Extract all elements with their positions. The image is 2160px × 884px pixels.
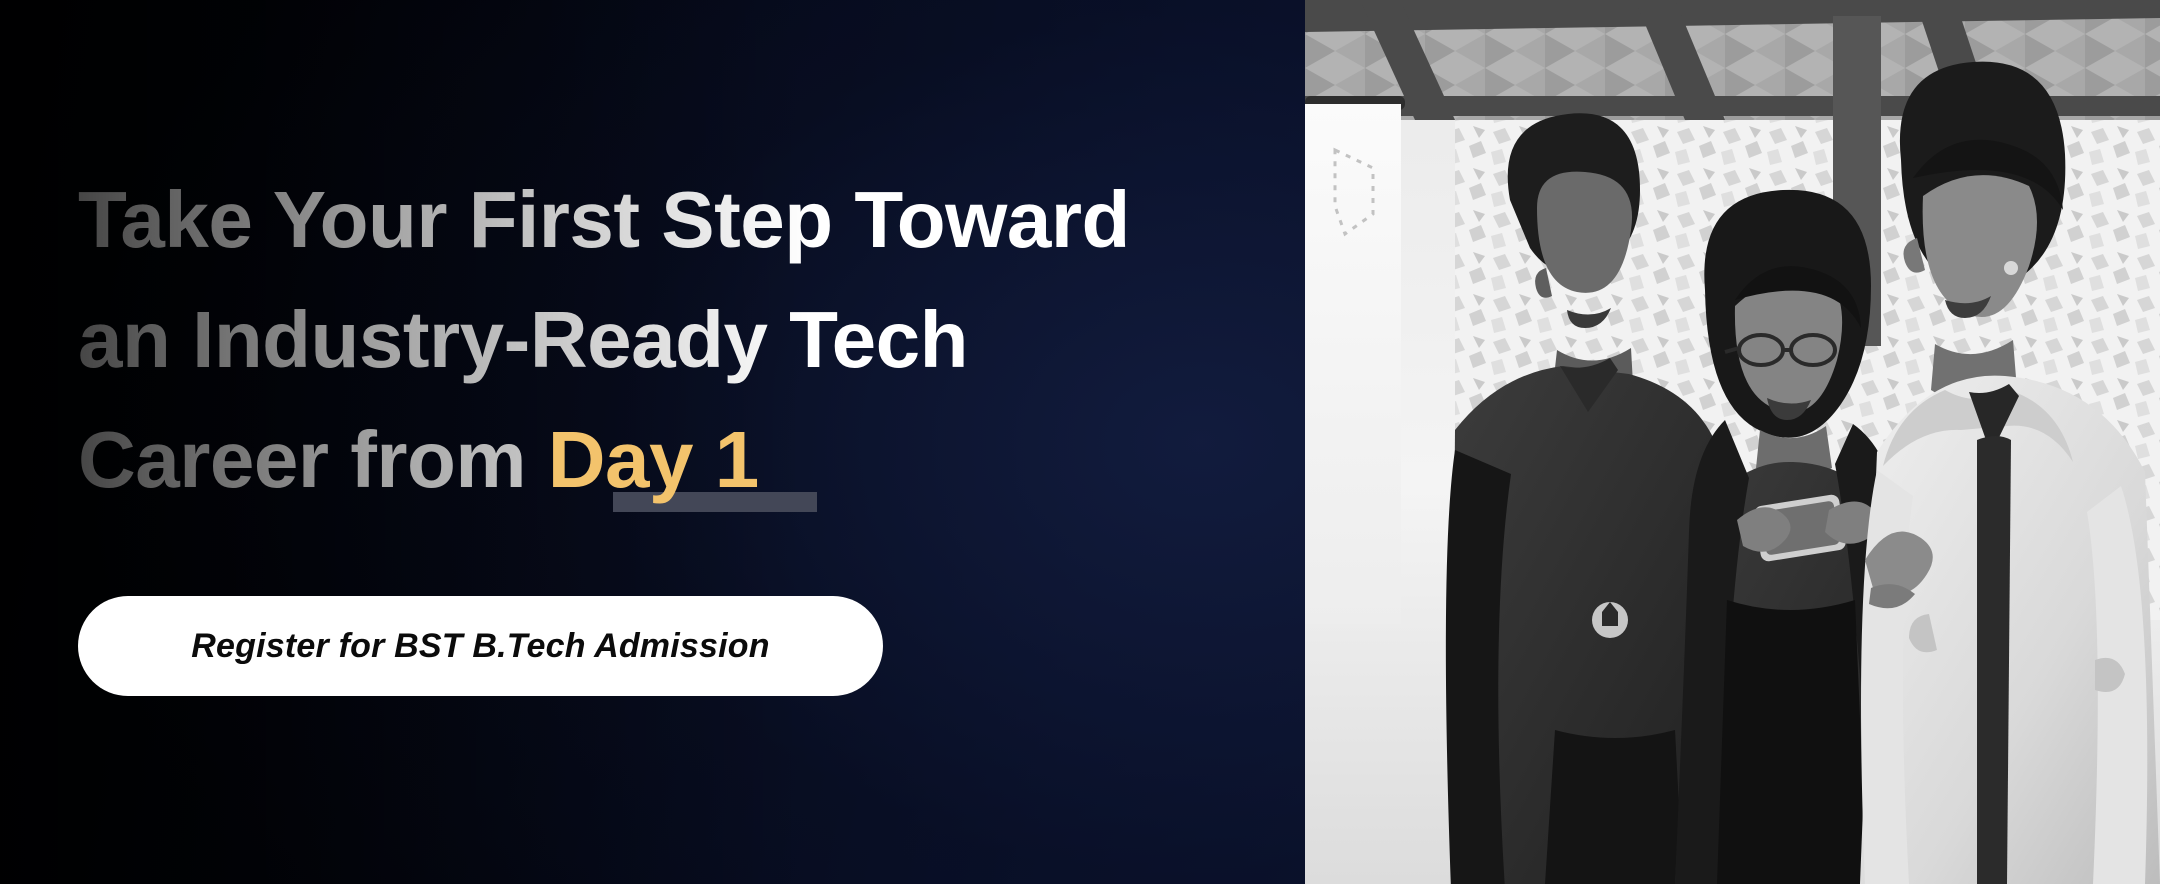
hero-banner: Take Your First Step Toward an Industry-… [0, 0, 2160, 884]
hero-text-panel: Take Your First Step Toward an Industry-… [0, 0, 1305, 884]
students-photo [1305, 0, 2160, 884]
headline-line-2: an Industry-Ready Tech [78, 280, 1258, 400]
register-admission-button[interactable]: Register for BST B.Tech Admission [78, 596, 883, 696]
headline-line-3-prefix: Career from [78, 415, 548, 504]
students-photo-illustration [1305, 0, 2160, 884]
headline-line-1: Take Your First Step Toward [78, 160, 1258, 280]
headline-accent-day1: Day 1 [548, 400, 759, 520]
page-title: Take Your First Step Toward an Industry-… [78, 160, 1258, 520]
headline-accent-wrap: Day 1 [548, 415, 759, 504]
headline-line-3: Career from Day 1 [78, 400, 1258, 520]
